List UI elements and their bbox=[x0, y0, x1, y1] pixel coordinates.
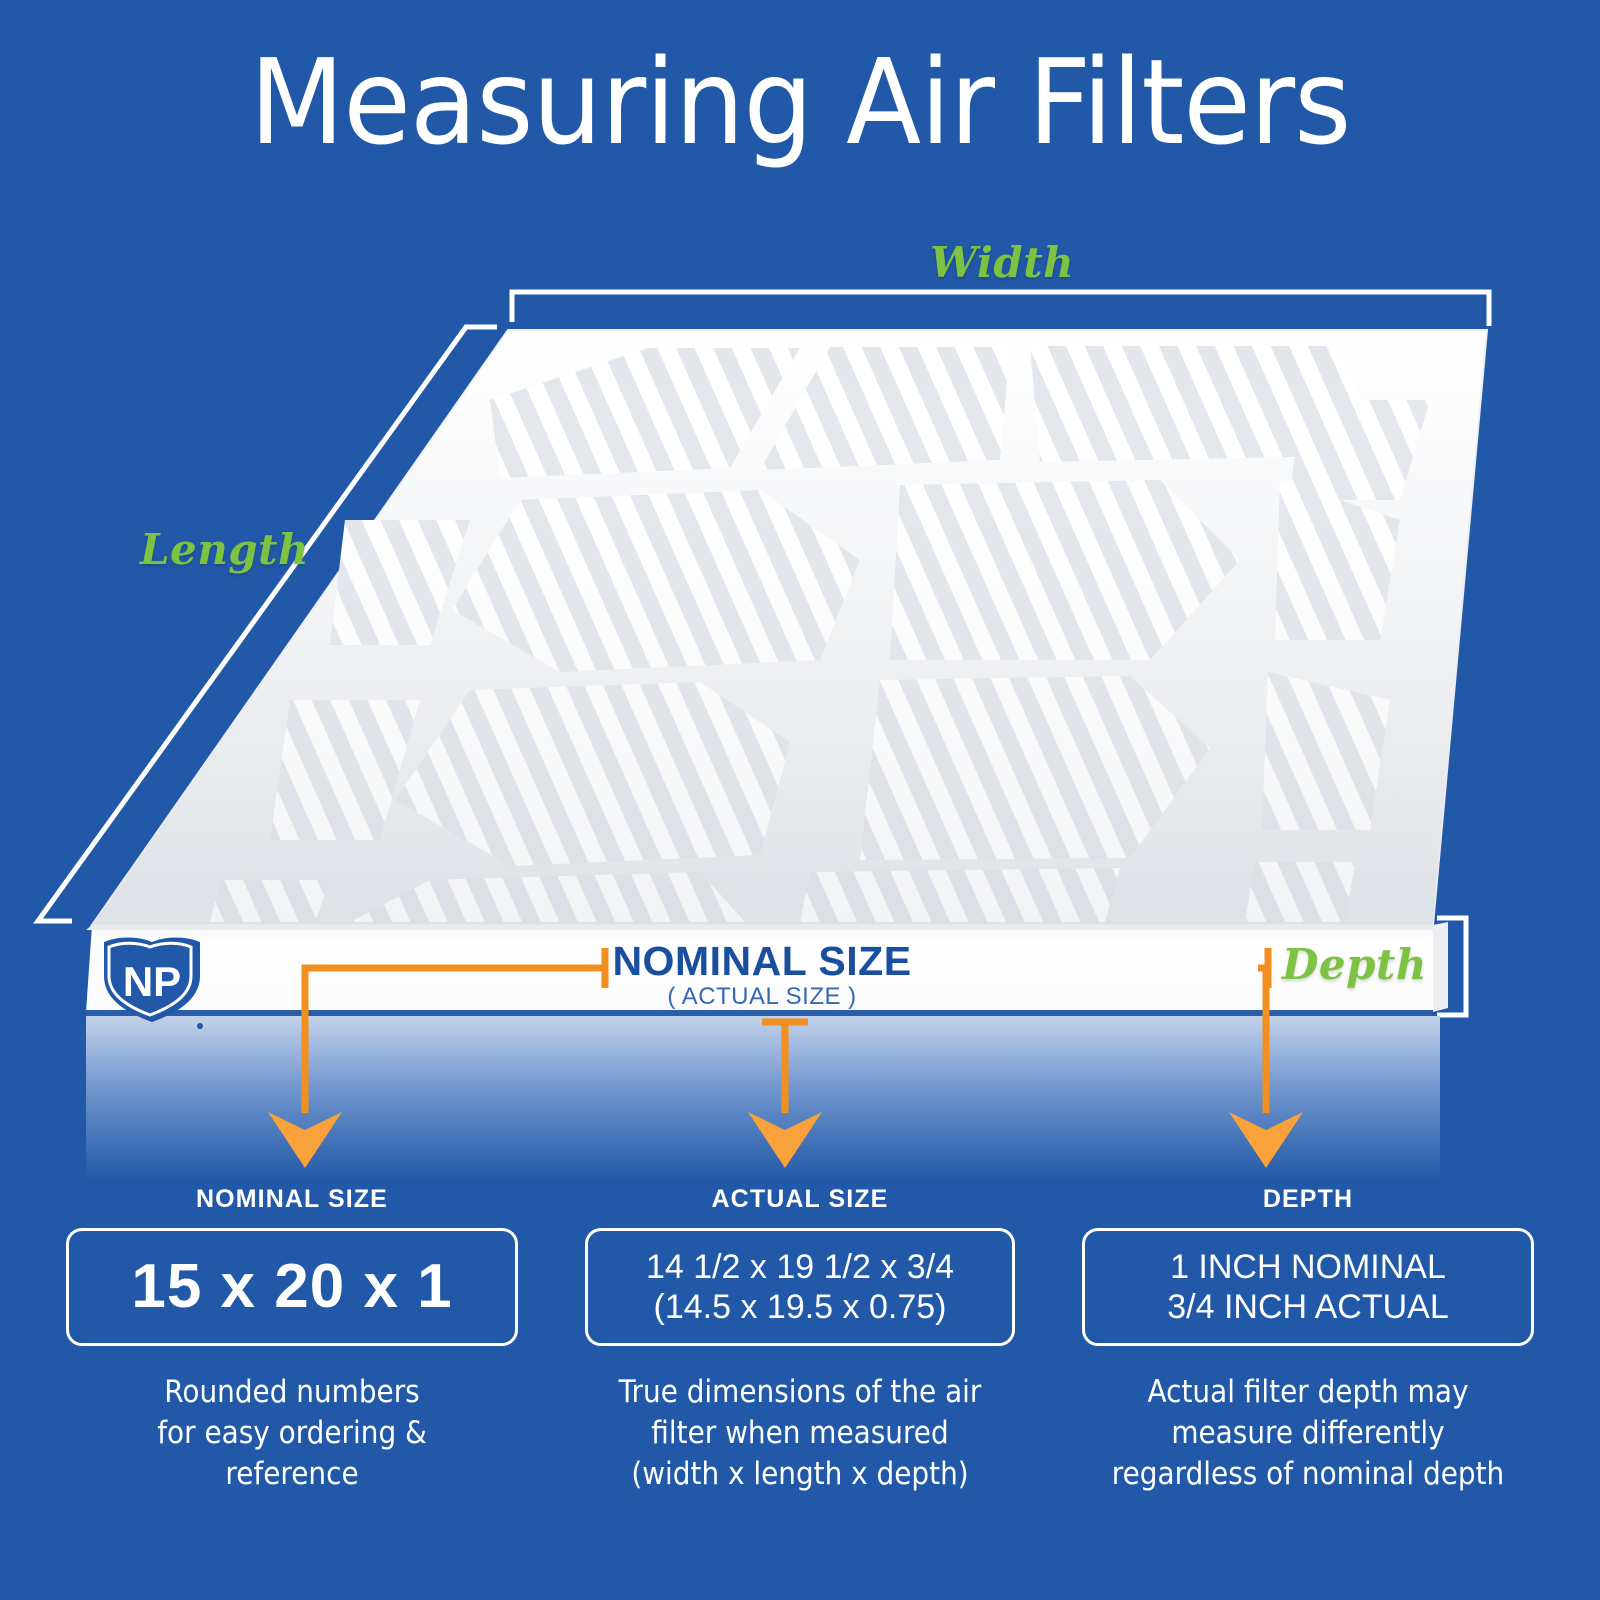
column-nominal-heading: NOMINAL SIZE bbox=[66, 1185, 518, 1214]
column-actual-caption: True dimensions of the air filter when m… bbox=[607, 1372, 994, 1495]
card-nominal-value: 15 x 20 x 1 bbox=[131, 1256, 452, 1318]
caption-line: measure differently bbox=[1105, 1413, 1512, 1454]
front-label-nominal: NOMINAL SIZE bbox=[612, 938, 911, 984]
column-depth-caption: Actual filter depth may measure differen… bbox=[1105, 1372, 1512, 1495]
caption-line: True dimensions of the air bbox=[607, 1372, 994, 1413]
filter-panel bbox=[92, 330, 1487, 925]
infographic-canvas: Measuring Air Filters bbox=[0, 0, 1600, 1600]
front-label-actual: ( ACTUAL SIZE ) bbox=[667, 983, 856, 1010]
label-depth: Depth bbox=[1282, 940, 1427, 989]
label-width: Width bbox=[930, 238, 1074, 287]
card-depth: 1 INCH NOMINAL 3/4 INCH ACTUAL bbox=[1082, 1228, 1534, 1346]
card-nominal-size: 15 x 20 x 1 bbox=[66, 1228, 518, 1346]
column-actual: ACTUAL SIZE 14 1/2 x 19 1/2 x 3/4 (14.5 … bbox=[585, 1185, 1015, 1585]
card-depth-value-line2: 3/4 INCH ACTUAL bbox=[1167, 1287, 1449, 1327]
filter-reflection bbox=[86, 1016, 1440, 1180]
width-dimension-bracket bbox=[512, 292, 1489, 326]
caption-line: for easy ordering & reference bbox=[89, 1413, 496, 1495]
column-depth-heading: DEPTH bbox=[1082, 1185, 1534, 1214]
caption-line: Rounded numbers bbox=[89, 1372, 496, 1413]
legend-columns: NOMINAL SIZE 15 x 20 x 1 Rounded numbers… bbox=[0, 1185, 1600, 1585]
svg-text:NP: NP bbox=[123, 958, 181, 1005]
column-nominal: NOMINAL SIZE 15 x 20 x 1 Rounded numbers… bbox=[66, 1185, 518, 1585]
card-actual-size: 14 1/2 x 19 1/2 x 3/4 (14.5 x 19.5 x 0.7… bbox=[585, 1228, 1015, 1346]
column-nominal-caption: Rounded numbers for easy ordering & refe… bbox=[89, 1372, 496, 1495]
caption-line: (width x length x depth) bbox=[607, 1454, 994, 1495]
column-actual-heading: ACTUAL SIZE bbox=[585, 1185, 1015, 1214]
card-actual-value-line1: 14 1/2 x 19 1/2 x 3/4 bbox=[646, 1247, 954, 1287]
caption-line: Actual filter depth may bbox=[1105, 1372, 1512, 1413]
caption-line: filter when measured bbox=[607, 1413, 994, 1454]
card-depth-value-line1: 1 INCH NOMINAL bbox=[1170, 1247, 1446, 1287]
column-depth: DEPTH 1 INCH NOMINAL 3/4 INCH ACTUAL Act… bbox=[1082, 1185, 1534, 1585]
caption-line: regardless of nominal depth bbox=[1105, 1454, 1512, 1495]
label-length: Length bbox=[140, 525, 309, 574]
card-actual-value-line2: (14.5 x 19.5 x 0.75) bbox=[654, 1287, 947, 1327]
